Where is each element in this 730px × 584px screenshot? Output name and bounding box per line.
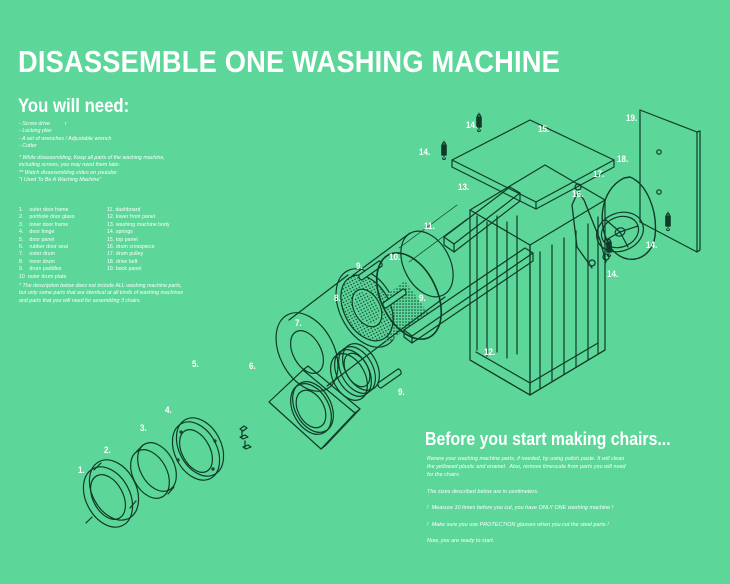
disclaimer-line: but only some parts that are identical a… — [19, 290, 183, 297]
part-entry-line: 6. rubber door seal — [19, 244, 74, 251]
callout-number: 14. — [607, 270, 618, 279]
parts-list-left-column: 1. outer door frame2. porthole door glas… — [19, 207, 74, 281]
part-entry-line: 12. lower front panel — [107, 214, 170, 221]
chairs-paragraph-line: the yellowed plastic and enamel. Also, r… — [427, 463, 626, 471]
callout-number: 2. — [104, 446, 111, 455]
callout-number: 17. — [593, 170, 604, 179]
part-entry-line: 10 outer drum plate — [19, 274, 74, 281]
callout-number: 7. — [295, 319, 302, 328]
callout-number: 9. — [356, 262, 363, 271]
part-back-panel — [640, 110, 700, 252]
part-washing-machine-body — [470, 165, 605, 395]
part-entry-line: 9. drum paddles — [19, 266, 74, 273]
chairs-paragraph-line: ! Make sure you use PROTECTION glasses w… — [427, 521, 626, 529]
chairs-paragraph-line — [427, 480, 626, 488]
tool-item-line: - Screw drive r — [19, 121, 111, 128]
chairs-paragraph-line — [427, 496, 626, 504]
callout-number: 5. — [192, 360, 199, 369]
callout-number: 18. — [617, 155, 628, 164]
part-door-hinge — [240, 426, 251, 449]
part-entry-line: 17. drum pulley — [107, 251, 170, 258]
part-entry-line: 15. top panel — [107, 237, 170, 244]
callout-number: 9. — [398, 388, 405, 397]
chairs-paragraph-line — [427, 529, 626, 537]
part-entry-line: 11. dashboard — [107, 207, 170, 214]
callout-number: 11. — [424, 222, 435, 231]
poster-canvas: DISASSEMBLE ONE WASHING MACHINE You will… — [0, 0, 730, 584]
chairs-paragraph-line: for the chairs. — [427, 471, 626, 479]
chairs-paragraph-line: Renew your washing machine parts, if nee… — [427, 455, 626, 463]
callout-number: 12. — [484, 348, 495, 357]
callout-number: 15. — [538, 125, 549, 134]
callout-number: 9. — [419, 294, 426, 303]
before-you-start-body: Renew your washing machine parts, if nee… — [427, 455, 626, 545]
callout-number: 6. — [249, 362, 256, 371]
callout-number: 4. — [165, 406, 172, 415]
callout-number: 14. — [419, 148, 430, 157]
chairs-paragraph-line: The sizes described below are in centime… — [427, 488, 626, 496]
page-title: DISASSEMBLE ONE WASHING MACHINE — [18, 45, 560, 79]
part-entry-line: 18. drive belt — [107, 259, 170, 266]
tools-list: - Screw drive r- Locking plier- A set of… — [19, 121, 111, 151]
part-door-panel — [269, 366, 360, 449]
parts-list-right-column: 11. dashboard12. lower front panel13. wa… — [107, 207, 170, 274]
part-entry-line: 5. door panel — [19, 237, 74, 244]
callout-number: 16. — [572, 190, 583, 199]
callout-number: 13. — [458, 183, 469, 192]
before-you-start-heading: Before you start making chairs... — [425, 428, 671, 450]
callout-number: 14. — [466, 121, 477, 130]
callout-number: 1. — [78, 466, 85, 475]
chairs-paragraph-line: ! Measure 10 times before you cut, you h… — [427, 504, 626, 512]
chairs-paragraph-line — [427, 512, 626, 520]
callout-number: 19. — [626, 114, 637, 123]
note-line: ** Watch disassembling video on youtube: — [19, 170, 165, 177]
disclaimer-line: * The description below does not include… — [19, 283, 183, 290]
note-line: * While disassembling, Keep all parts of… — [19, 155, 165, 162]
part-entry-line: 7. outer drum — [19, 251, 74, 258]
tool-item-line: - Locking plier — [19, 128, 111, 135]
parts-disclaimer: * The description below does not include… — [19, 283, 183, 305]
callout-number: 8. — [334, 294, 341, 303]
callout-number: 10. — [389, 253, 400, 262]
note-line: including screws, you may need them late… — [19, 162, 165, 169]
disclaimer-line: and parts that you will need for assembl… — [19, 298, 183, 305]
part-outer-door-frame — [74, 451, 149, 535]
tool-item-line: - Cutter — [19, 143, 111, 150]
part-porthole-door-glass — [123, 436, 184, 505]
part-inner-door-frame — [163, 410, 233, 488]
note-line: "I Used To Be A Washing Machine" — [19, 177, 165, 184]
part-entry-line: 4. door hinge — [19, 229, 74, 236]
part-entry-line: 16. drum crosspiece — [107, 244, 170, 251]
part-entry-line: 2. porthole door glass — [19, 214, 74, 221]
notes-block: * While disassembling, Keep all parts of… — [19, 155, 165, 185]
part-top-panel — [452, 120, 614, 209]
part-entry-line: 14. springs — [107, 229, 170, 236]
callout-number: 3. — [140, 424, 147, 433]
part-entry-line: 13. washing machine body — [107, 222, 170, 229]
tool-item-line: - A set of wrenches / Adjustable wrench — [19, 136, 111, 143]
callout-number: 14. — [646, 241, 657, 250]
part-entry-line: 19. back panel — [107, 266, 170, 273]
part-entry-line: 1. outer door frame — [19, 207, 74, 214]
chairs-paragraph-line: Now, you are ready to start. — [427, 537, 626, 545]
part-dashboard — [444, 187, 520, 252]
you-will-need-heading: You will need: — [18, 96, 129, 118]
part-entry-line: 3. inner door frame — [19, 222, 74, 229]
part-entry-line: 8. inner drum — [19, 259, 74, 266]
